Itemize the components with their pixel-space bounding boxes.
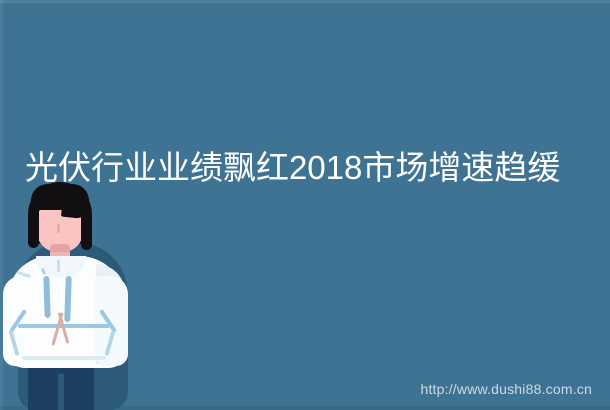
hoodie-hem (22, 356, 106, 360)
person-illustration (0, 180, 140, 410)
thumbnail-canvas: 光伏行业业绩飘红2018市场增速趋缓 http://www (0, 0, 610, 410)
nose-mark (57, 224, 60, 233)
neck-shadow (50, 244, 70, 252)
hoodie-right-sleeve (95, 276, 128, 366)
site-url-watermark: http://www.dushi88.com.cn (420, 380, 592, 398)
hair-left-sideburn (28, 210, 39, 248)
hoodie-collar-seam (57, 260, 60, 272)
top-edge-highlight (0, 0, 610, 3)
